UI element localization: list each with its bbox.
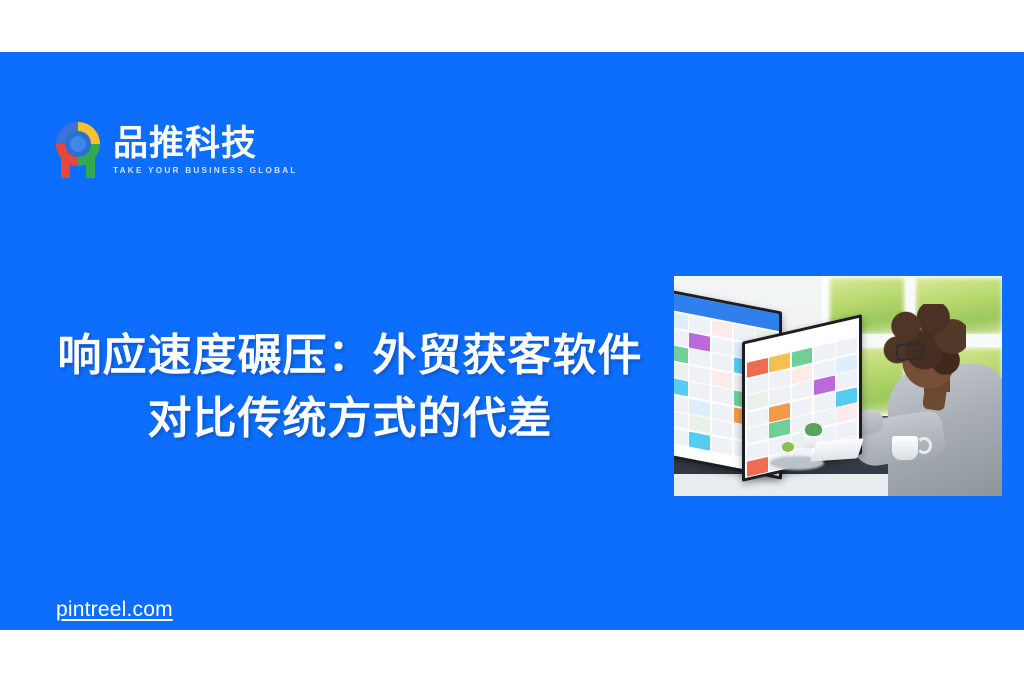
small-plant	[782, 442, 794, 452]
headline-block: 响应速度碾压：外贸获客软件 对比传统方式的代差	[0, 324, 700, 450]
coffee-mug	[892, 436, 918, 460]
hero-photo-scene	[674, 276, 1002, 496]
brand-logo[interactable]: 品推科技 TAKE YOUR BUSINESS GLOBAL	[52, 118, 298, 180]
dashboard-cell	[712, 353, 733, 372]
website-url-link[interactable]: pintreel.com	[56, 597, 173, 622]
brand-tagline: TAKE YOUR BUSINESS GLOBAL	[113, 166, 298, 175]
dashboard-cell	[712, 435, 733, 454]
brand-wordmark: 品推科技 TAKE YOUR BUSINESS GLOBAL	[113, 123, 298, 174]
coffee-mug-handle	[916, 437, 932, 454]
glasses-icon	[895, 342, 925, 362]
dashboard-cell	[712, 386, 733, 405]
slide-background: 品推科技 TAKE YOUR BUSINESS GLOBAL 响应速度碾压：外贸…	[0, 52, 1024, 630]
dashboard-cell	[712, 320, 733, 339]
brand-name-cn: 品推科技	[113, 125, 298, 162]
plant-leaves	[805, 423, 822, 436]
person-hair	[880, 304, 966, 378]
slide-canvas: 品推科技 TAKE YOUR BUSINESS GLOBAL 响应速度碾压：外贸…	[0, 0, 1024, 683]
dashboard-cell	[747, 457, 768, 477]
keyboard	[810, 438, 864, 461]
pintreel-circular-mark-icon	[52, 118, 104, 180]
dashboard-cell	[712, 419, 733, 438]
headline-line-2: 对比传统方式的代差	[0, 387, 700, 450]
headline-line-1: 响应速度碾压：外贸获客软件	[0, 324, 700, 387]
hero-photo	[674, 276, 1002, 496]
